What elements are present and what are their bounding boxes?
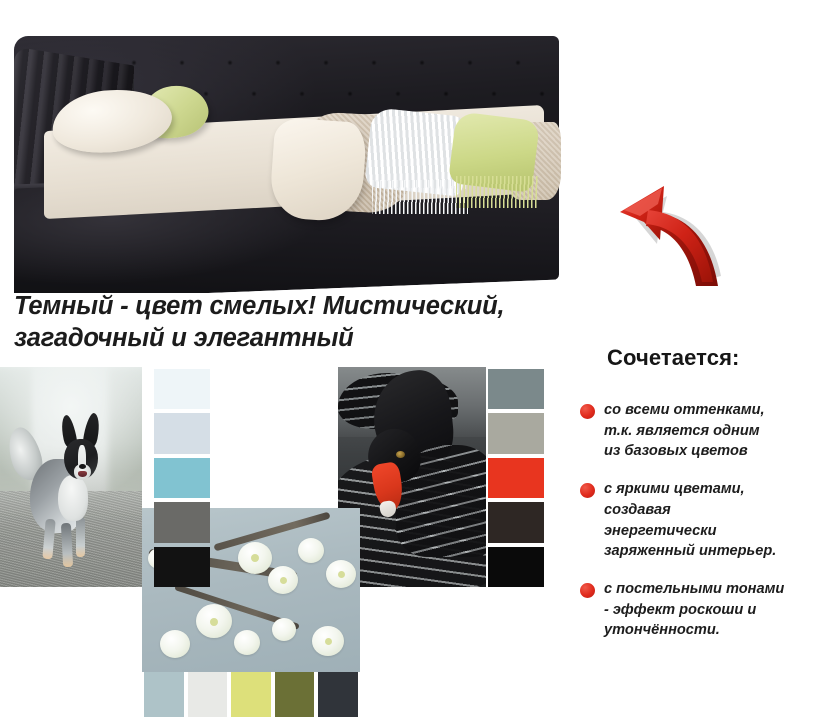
mood-photo-black-swan (338, 367, 486, 587)
color-swatch[interactable] (231, 672, 271, 717)
color-swatch[interactable] (488, 502, 544, 542)
list-item-line: энергетически (604, 523, 717, 539)
arrow-icon-container (606, 182, 732, 290)
list-item-line: со всеми оттенками, (604, 402, 765, 418)
blossom-center (251, 554, 259, 562)
page-title-line-2: загадочный и элегантный (14, 322, 562, 354)
list-item: с постельными тонами - эффект роскоши и … (580, 579, 839, 641)
palette-row-bottom (142, 672, 360, 717)
list-item-line: заряженный интерьер. (604, 543, 776, 559)
list-item-text: со всеми оттенками, т.к. является одним … (604, 400, 765, 462)
color-swatch[interactable] (488, 369, 544, 409)
bullet-dot-icon (580, 483, 595, 498)
list-item-line: т.к. является одним (604, 423, 760, 439)
list-item-text: с яркими цветами, создавая энергетически… (604, 479, 776, 562)
blossom-flower (234, 630, 260, 655)
page-title: Темный - цвет смелых! Мистический, загад… (14, 290, 562, 355)
blossom-flower (272, 618, 296, 641)
list-item-line: из базовых цветов (604, 443, 748, 459)
list-item-line: создавая (604, 502, 671, 518)
collage-white-gap (212, 367, 338, 519)
blossom-center (338, 571, 345, 578)
color-swatch[interactable] (154, 413, 210, 453)
curved-arrow-icon (606, 182, 732, 290)
swan-eye (396, 451, 405, 458)
color-swatch[interactable] (154, 369, 210, 409)
palette-column-right (486, 367, 556, 589)
blossom-center (280, 577, 287, 584)
color-swatch[interactable] (154, 458, 210, 498)
list-item: с яркими цветами, создавая энергетически… (580, 479, 839, 562)
list-item: со всеми оттенками, т.к. является одним … (580, 400, 839, 462)
color-swatch[interactable] (488, 413, 544, 453)
list-item-line: - эффект роскоши и (604, 602, 756, 618)
bullet-dot-icon (580, 583, 595, 598)
dog-chest (58, 475, 88, 521)
color-swatch[interactable] (275, 672, 315, 717)
mood-photo-border-collie (0, 367, 142, 587)
section-title-combines: Сочетается: (607, 345, 739, 371)
throw-fringe-green (456, 176, 538, 208)
color-swatch[interactable] (318, 672, 358, 717)
blossom-center (210, 618, 218, 626)
product-photo-black-daybed (0, 8, 563, 293)
combines-list: со всеми оттенками, т.к. является одним … (580, 400, 839, 658)
dog-nose (79, 464, 86, 469)
color-swatch[interactable] (488, 458, 544, 498)
list-item-line: утончённости. (604, 622, 720, 638)
dog-mouth (78, 471, 87, 477)
color-swatch[interactable] (154, 502, 210, 542)
color-swatch[interactable] (488, 547, 544, 587)
list-item-text: с постельными тонами - эффект роскоши и … (604, 579, 784, 641)
bullet-dot-icon (580, 404, 595, 419)
blossom-flower (160, 630, 190, 658)
page-title-line-1: Темный - цвет смелых! Мистический, (14, 290, 562, 322)
infographic-canvas: Темный - цвет смелых! Мистический, загад… (0, 0, 839, 719)
palette-column-left (142, 367, 212, 589)
blossom-center (325, 638, 332, 645)
color-swatch[interactable] (188, 672, 228, 717)
dog-leg (76, 517, 85, 557)
throw-fringe-white (372, 180, 468, 214)
blossom-flower (298, 538, 324, 563)
color-swatch[interactable] (154, 547, 210, 587)
list-item-line: с яркими цветами, (604, 481, 745, 497)
color-swatch[interactable] (144, 672, 184, 717)
list-item-line: с постельными тонами (604, 581, 784, 597)
